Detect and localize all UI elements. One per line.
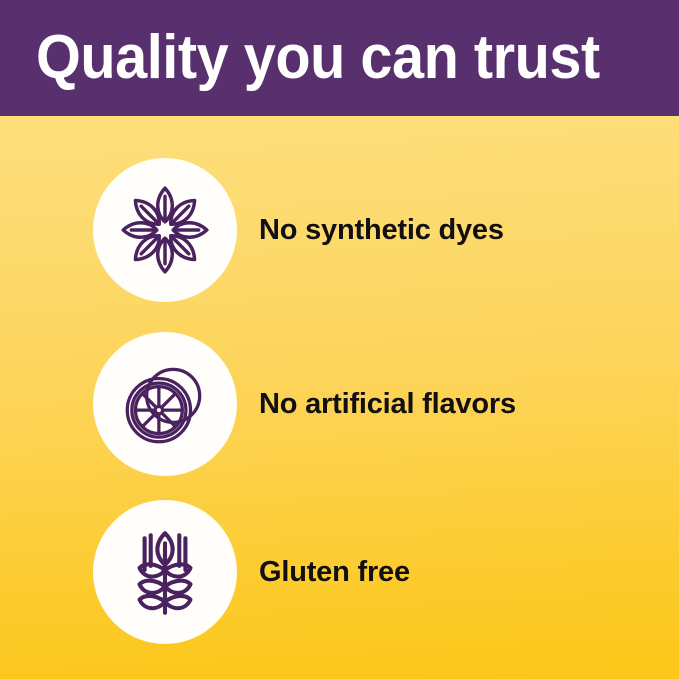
page-title: Quality you can trust	[36, 27, 600, 89]
feature-list: No synthetic dyes	[0, 116, 679, 679]
feature-label: No synthetic dyes	[259, 216, 504, 245]
icon-badge	[93, 332, 237, 476]
feature-label: No artificial flavors	[259, 390, 516, 419]
quality-claims-panel: Quality you can trust	[0, 0, 679, 679]
icon-badge	[93, 500, 237, 644]
feature-item-no-synthetic-dyes: No synthetic dyes	[93, 158, 504, 302]
flower-petals-icon	[114, 179, 216, 281]
feature-label: Gluten free	[259, 558, 410, 587]
header-banner: Quality you can trust	[0, 0, 679, 116]
icon-badge	[93, 158, 237, 302]
feature-item-gluten-free: Gluten free	[93, 500, 410, 644]
citrus-slice-icon	[114, 353, 216, 455]
wheat-stalk-icon	[114, 521, 216, 623]
feature-item-no-artificial-flavors: No artificial flavors	[93, 332, 516, 476]
